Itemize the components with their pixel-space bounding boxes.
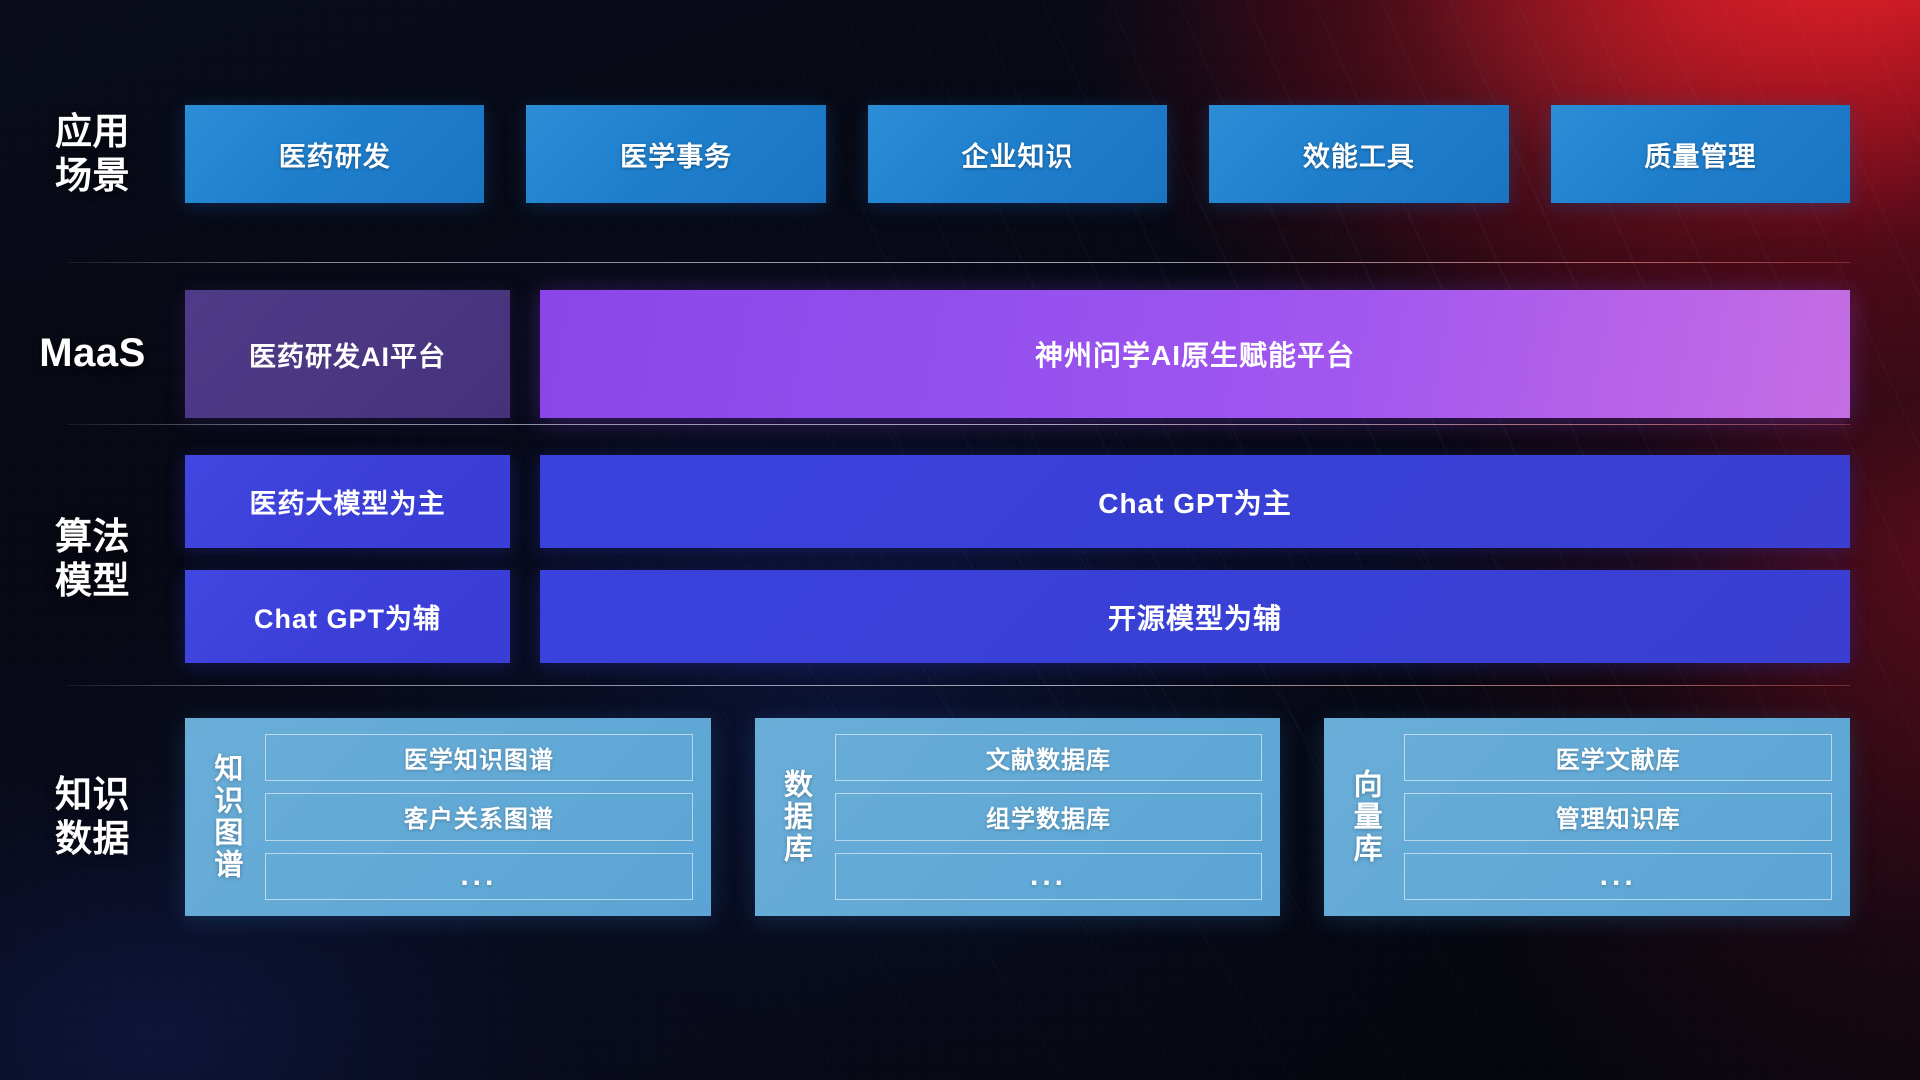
knowledge-data-panel-list: 知识图谱 医学知识图谱 客户关系图谱 ... 数据库 文献数据库 组学数据库	[185, 718, 1850, 916]
knowledge-panel-vector-store[interactable]: 向量库 医学文献库 管理知识库 ...	[1324, 718, 1850, 916]
row-label-line: 模型	[0, 559, 185, 603]
scenario-card-enterprise-knowledge[interactable]: 企业知识	[868, 105, 1167, 203]
row-label-line: 数据	[0, 817, 185, 861]
row-application-scenarios: 应用 场景 医药研发 医学事务 企业知识 效能工具 质量管理	[0, 105, 1920, 203]
row-label-line: 场景	[0, 154, 185, 198]
row-algorithm-models: 算法 模型 医药大模型为主 Chat GPT为主 Chat GPT为辅 开源模型…	[0, 455, 1920, 663]
scenario-card-medical-affairs[interactable]: 医学事务	[526, 105, 825, 203]
maas-card-pharma-ai-platform[interactable]: 医药研发AI平台	[185, 290, 510, 418]
algorithm-model-row-secondary: Chat GPT为辅 开源模型为辅	[185, 570, 1850, 663]
maas-card-shenzhou-wenxue-platform[interactable]: 神州问学AI原生赋能平台	[540, 290, 1850, 418]
knowledge-item-customer-relation-graph[interactable]: 客户关系图谱	[265, 793, 693, 840]
row-maas: MaaS 医药研发AI平台 神州问学AI原生赋能平台	[0, 290, 1920, 418]
row-body-algorithm-models: 医药大模型为主 Chat GPT为主 Chat GPT为辅 开源模型为辅	[185, 455, 1920, 663]
knowledge-panel-title-knowledge-graph: 知识图谱	[199, 734, 251, 900]
knowledge-item-list: 医学知识图谱 客户关系图谱 ...	[265, 734, 693, 900]
knowledge-item-more[interactable]: ...	[835, 853, 1263, 900]
algo-card-pharma-large-model-primary[interactable]: 医药大模型为主	[185, 455, 510, 548]
algorithm-model-list: 医药大模型为主 Chat GPT为主 Chat GPT为辅 开源模型为辅	[185, 455, 1850, 663]
knowledge-panel-database[interactable]: 数据库 文献数据库 组学数据库 ...	[755, 718, 1281, 916]
algorithm-model-row-primary: 医药大模型为主 Chat GPT为主	[185, 455, 1850, 548]
architecture-diagram: 应用 场景 医药研发 医学事务 企业知识 效能工具 质量管理 MaaS 医药研发…	[0, 0, 1920, 1080]
row-label-algorithm-models: 算法 模型	[0, 515, 185, 602]
row-body-application-scenarios: 医药研发 医学事务 企业知识 效能工具 质量管理	[185, 105, 1920, 203]
knowledge-item-more[interactable]: ...	[1404, 853, 1832, 900]
knowledge-panel-knowledge-graph[interactable]: 知识图谱 医学知识图谱 客户关系图谱 ...	[185, 718, 711, 916]
algo-card-chatgpt-primary[interactable]: Chat GPT为主	[540, 455, 1850, 548]
row-label-maas: MaaS	[0, 330, 185, 377]
row-body-maas: 医药研发AI平台 神州问学AI原生赋能平台	[185, 290, 1920, 418]
scenario-card-medicine-rnd[interactable]: 医药研发	[185, 105, 484, 203]
row-label-application-scenarios: 应用 场景	[0, 110, 185, 197]
algo-card-chatgpt-secondary[interactable]: Chat GPT为辅	[185, 570, 510, 663]
knowledge-item-medical-knowledge-graph[interactable]: 医学知识图谱	[265, 734, 693, 781]
knowledge-item-literature-database[interactable]: 文献数据库	[835, 734, 1263, 781]
divider-3	[68, 685, 1850, 686]
scenario-card-quality-management[interactable]: 质量管理	[1551, 105, 1850, 203]
row-knowledge-data: 知识 数据 知识图谱 医学知识图谱 客户关系图谱 ...	[0, 718, 1920, 916]
maas-platform-list: 医药研发AI平台 神州问学AI原生赋能平台	[185, 290, 1850, 418]
slide-canvas: 应用 场景 医药研发 医学事务 企业知识 效能工具 质量管理 MaaS 医药研发…	[0, 0, 1920, 1080]
row-label-line: 算法	[0, 515, 185, 559]
scenario-card-efficiency-tools[interactable]: 效能工具	[1209, 105, 1508, 203]
divider-2	[68, 424, 1850, 425]
divider-1	[68, 262, 1850, 263]
knowledge-item-management-knowledge-store[interactable]: 管理知识库	[1404, 793, 1832, 840]
knowledge-item-more[interactable]: ...	[265, 853, 693, 900]
knowledge-item-list: 文献数据库 组学数据库 ...	[835, 734, 1263, 900]
application-scenario-list: 医药研发 医学事务 企业知识 效能工具 质量管理	[185, 105, 1850, 203]
knowledge-item-omics-database[interactable]: 组学数据库	[835, 793, 1263, 840]
knowledge-panel-title-database: 数据库	[769, 734, 821, 900]
row-label-line: 知识	[0, 773, 185, 817]
knowledge-item-list: 医学文献库 管理知识库 ...	[1404, 734, 1832, 900]
knowledge-item-medical-literature-store[interactable]: 医学文献库	[1404, 734, 1832, 781]
row-label-line: 应用	[0, 110, 185, 154]
algo-card-opensource-secondary[interactable]: 开源模型为辅	[540, 570, 1850, 663]
knowledge-panel-title-vector-store: 向量库	[1338, 734, 1390, 900]
row-body-knowledge-data: 知识图谱 医学知识图谱 客户关系图谱 ... 数据库 文献数据库 组学数据库	[185, 718, 1920, 916]
row-label-knowledge-data: 知识 数据	[0, 773, 185, 860]
